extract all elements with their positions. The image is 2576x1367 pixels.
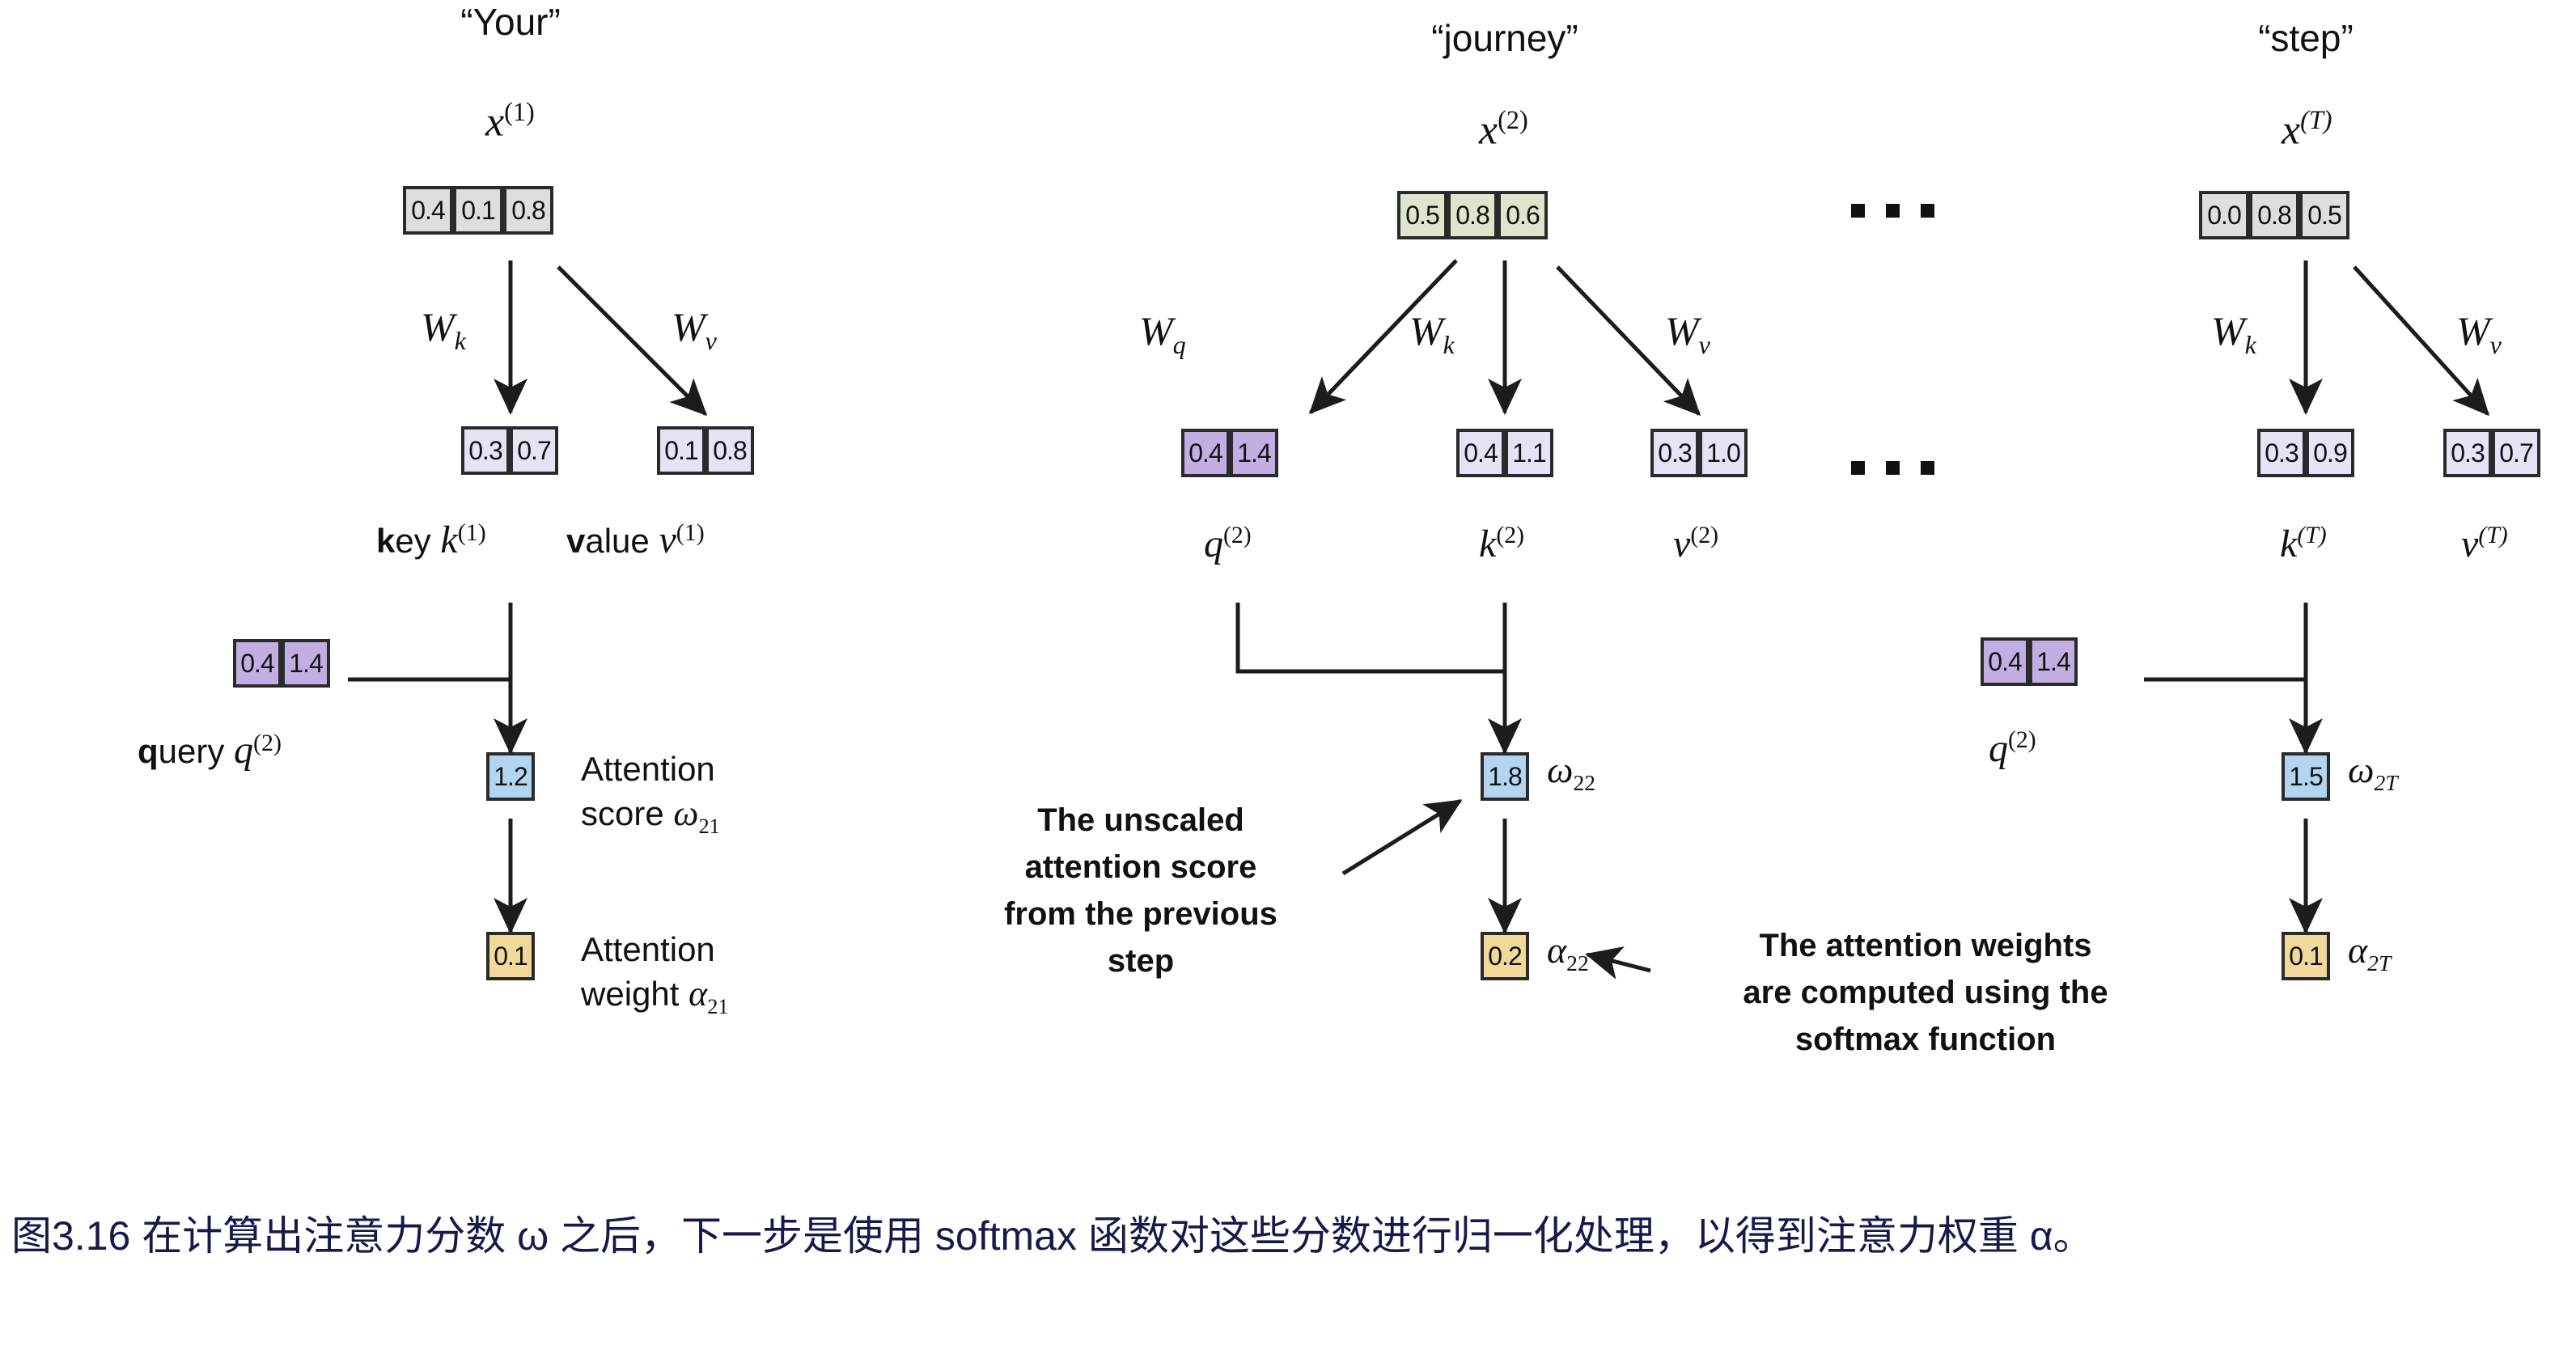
attention-score-cell-2: 1.8 xyxy=(1481,752,1529,801)
attention-weight-label-1: Attention weight α21 xyxy=(581,929,729,1019)
query-cell: 0.4 xyxy=(1181,429,1230,477)
key-cell: 0.3 xyxy=(2257,429,2306,477)
weight-label-wv-3: Wv xyxy=(2456,307,2502,360)
query-cell: 1.4 xyxy=(1230,429,1278,477)
weight-label-wk-3: Wk xyxy=(2211,307,2256,360)
value-vector-3: 0.3 0.7 xyxy=(2443,429,2540,477)
value-label-3: v(T) xyxy=(2461,522,2508,566)
value-cell: 0.7 xyxy=(2492,429,2540,477)
softmax-note: The attention weights are computed using… xyxy=(1667,922,2184,1063)
query-label-3: q(2) xyxy=(1989,726,2036,771)
token-word-2: “journey” xyxy=(1383,16,1626,60)
key-vector-2: 0.4 1.1 xyxy=(1456,429,1553,477)
weight-label-wk-2: Wk xyxy=(1409,307,1455,360)
attention-score-symbol-3: ω2T xyxy=(2348,748,2398,796)
input-vector-2: 0.5 0.8 0.6 xyxy=(1397,191,1548,239)
key-cell: 0.4 xyxy=(1456,429,1505,477)
input-cell: 0.6 xyxy=(1498,191,1548,239)
attention-weight-symbol-3: α2T xyxy=(2348,929,2391,976)
query-cell: 1.4 xyxy=(282,639,330,688)
key-cell: 1.1 xyxy=(1505,429,1553,477)
value-cell: 0.1 xyxy=(657,426,705,475)
token-symbol-2: x(2) xyxy=(1479,105,1528,154)
key-label-2: k(2) xyxy=(1479,522,1524,566)
ellipsis-top-icon xyxy=(1851,204,1934,218)
input-cell: 0.5 xyxy=(1397,191,1447,239)
query-vector-1: 0.4 1.4 xyxy=(233,639,330,688)
attention-score-cell-3: 1.5 xyxy=(2282,752,2330,801)
query-label-1: query q(2) xyxy=(138,728,282,772)
query-cell: 0.4 xyxy=(1981,637,2029,686)
query-vector-3: 0.4 1.4 xyxy=(1981,637,2078,686)
attention-weight-cell-1: 0.1 xyxy=(486,932,535,980)
input-vector-3: 0.0 0.8 0.5 xyxy=(2199,191,2349,239)
attention-weight-cell-2: 0.2 xyxy=(1481,932,1529,980)
key-vector-1: 0.3 0.7 xyxy=(461,426,558,475)
ellipsis-bottom-icon xyxy=(1851,461,1934,475)
figure-canvas: “Your” x(1) 0.4 0.1 0.8 Wk Wv 0.3 0.7 ke… xyxy=(0,0,2576,1367)
key-cell: 0.9 xyxy=(2306,429,2354,477)
value-cell: 1.0 xyxy=(1699,429,1748,477)
query-cell: 0.4 xyxy=(233,639,282,688)
key-vector-3: 0.3 0.9 xyxy=(2257,429,2354,477)
weight-label-wq-2: Wq xyxy=(1139,307,1186,360)
token-symbol-3: x(T) xyxy=(2282,105,2332,154)
token-word-3: “step” xyxy=(2209,16,2403,60)
unscaled-score-note: The unscaled attention score from the pr… xyxy=(947,797,1335,984)
token-symbol-1: x(1) xyxy=(485,97,535,146)
input-cell: 0.8 xyxy=(2249,191,2299,239)
query-vector-2: 0.4 1.4 xyxy=(1181,429,1278,477)
value-cell: 0.3 xyxy=(2443,429,2492,477)
input-cell: 0.1 xyxy=(453,186,503,235)
weight-label-wv-2: Wv xyxy=(1665,307,1710,360)
key-label-1: key k(1) xyxy=(376,518,486,562)
weight-label-wv-1: Wv xyxy=(672,303,717,356)
key-cell: 0.3 xyxy=(461,426,510,475)
value-cell: 0.8 xyxy=(705,426,754,475)
value-cell: 0.3 xyxy=(1650,429,1699,477)
value-label-1: value v(1) xyxy=(566,518,705,562)
attention-score-symbol-2: ω22 xyxy=(1547,748,1595,796)
weight-label-wk-1: Wk xyxy=(421,303,466,356)
key-cell: 0.7 xyxy=(510,426,558,475)
token-word-1: “Your” xyxy=(389,0,632,44)
value-vector-1: 0.1 0.8 xyxy=(657,426,754,475)
input-vector-1: 0.4 0.1 0.8 xyxy=(403,186,553,235)
connector-lines xyxy=(0,0,2576,1367)
attention-weight-cell-3: 0.1 xyxy=(2282,932,2330,980)
figure-caption: 图3.16 在计算出注意力分数 ω 之后，下一步是使用 softmax 函数对这… xyxy=(11,1205,2536,1267)
key-label-3: k(T) xyxy=(2280,522,2327,566)
query-cell: 1.4 xyxy=(2029,637,2078,686)
value-vector-2: 0.3 1.0 xyxy=(1650,429,1748,477)
input-cell: 0.5 xyxy=(2299,191,2349,239)
attention-score-label-1: Attention score ω21 xyxy=(581,748,720,839)
input-cell: 0.0 xyxy=(2199,191,2249,239)
value-label-2: v(2) xyxy=(1673,522,1718,566)
input-cell: 0.8 xyxy=(1447,191,1498,239)
attention-weight-symbol-2: α22 xyxy=(1547,929,1589,976)
input-cell: 0.4 xyxy=(403,186,453,235)
attention-score-cell-1: 1.2 xyxy=(486,752,535,801)
query-label-2: q(2) xyxy=(1204,522,1252,566)
input-cell: 0.8 xyxy=(503,186,553,235)
